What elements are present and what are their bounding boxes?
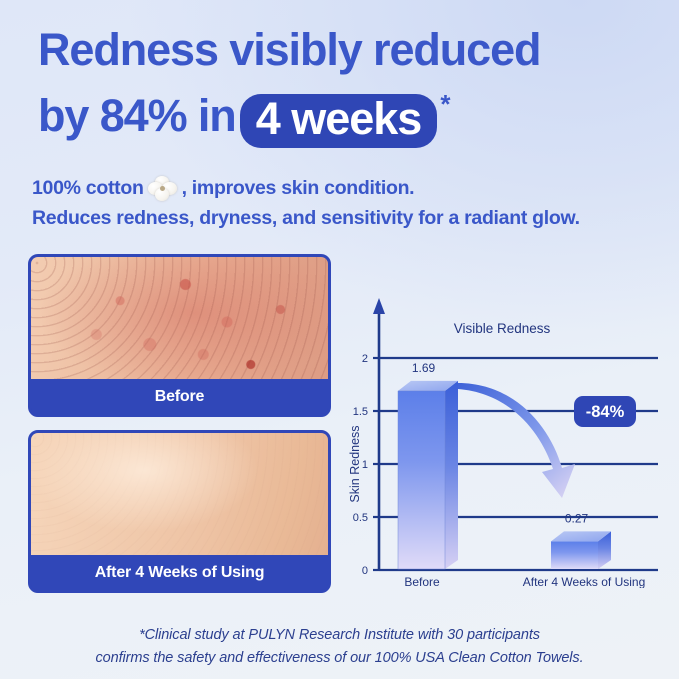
- subtitle: 100% cotton, improves skin condition. Re…: [32, 173, 652, 233]
- y-tick-label-1: 1: [362, 459, 368, 471]
- subtitle-line-1: 100% cotton, improves skin condition.: [32, 173, 652, 203]
- y-tick-label-0: 0: [362, 565, 368, 577]
- footnote: *Clinical study at PULYN Research Instit…: [40, 624, 639, 670]
- subtitle-line-1-suffix: , improves skin condition.: [182, 177, 415, 199]
- decrease-badge: -84%: [574, 396, 636, 427]
- decrease-badge-label: -84%: [586, 403, 625, 421]
- subtitle-line-1-prefix: 100% cotton: [32, 177, 144, 199]
- x-category-label-before: Before: [404, 575, 440, 588]
- photo-card-before: Before: [28, 254, 331, 417]
- x-category-label-after: After 4 Weeks of Using: [523, 575, 646, 588]
- skin-photo-after: [31, 433, 328, 558]
- footnote-line-1: *Clinical study at PULYN Research Instit…: [40, 624, 639, 647]
- headline-asterisk: *: [440, 89, 449, 119]
- cotton-boll-icon: [146, 176, 180, 202]
- weeks-badge: 4 weeks: [240, 94, 438, 148]
- headline-line-1: Redness visibly reduced: [38, 22, 648, 77]
- chart-y-axis-title: Skin Redness: [348, 425, 362, 502]
- y-tick-label-0-5: 0.5: [353, 512, 368, 524]
- headline-line-2: by 84% in4 weeks*: [38, 77, 648, 148]
- y-tick-label-1-5: 1.5: [353, 406, 368, 418]
- y-tick-label-2: 2: [362, 353, 368, 365]
- bar-after: [551, 531, 611, 569]
- footnote-line-2: confirms the safety and effectiveness of…: [40, 647, 639, 670]
- photo-card-after: After 4 Weeks of Using: [28, 430, 331, 593]
- photo-caption-before: Before: [31, 379, 328, 414]
- skin-redness-bar-chart: 2 1.5 1 0.5 0 Skin Redness Visible Redne…: [346, 286, 666, 588]
- bar-before: [398, 381, 458, 569]
- chart-title: Visible Redness: [454, 321, 551, 336]
- bar-value-label-after: 0.27: [565, 511, 589, 525]
- promo-poster: Redness visibly reduced by 84% in4 weeks…: [0, 0, 679, 679]
- decrease-arrow-icon: [458, 383, 575, 498]
- skin-photo-before: [31, 257, 328, 382]
- headline-line-2-prefix: by 84% in: [38, 90, 236, 141]
- headline: Redness visibly reduced by 84% in4 weeks…: [38, 22, 648, 148]
- chart-y-axis: [373, 298, 385, 570]
- subtitle-line-2: Reduces redness, dryness, and sensitivit…: [32, 203, 652, 233]
- bar-value-label-before: 1.69: [412, 361, 436, 375]
- photo-caption-after: After 4 Weeks of Using: [31, 555, 328, 590]
